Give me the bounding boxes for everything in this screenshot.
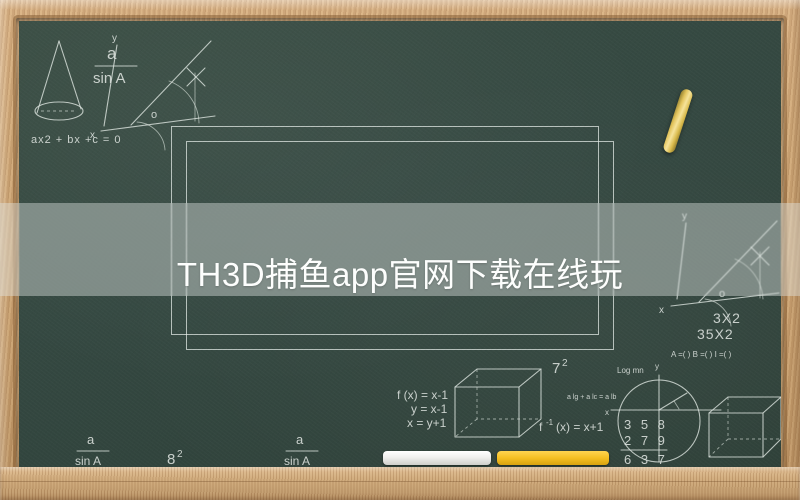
label-35x2: 35X2 xyxy=(697,326,734,342)
svg-text:2: 2 xyxy=(562,358,568,369)
svg-text:x = y+1: x = y+1 xyxy=(407,416,447,430)
circle-radius-drawing: y x xyxy=(605,362,721,462)
yellow-chalk-icon xyxy=(497,451,609,465)
svg-text:a: a xyxy=(296,432,304,447)
svg-text:7: 7 xyxy=(552,360,560,377)
svg-text:y = x-1: y = x-1 xyxy=(411,402,448,416)
svg-text:8: 8 xyxy=(167,451,175,467)
svg-text:a: a xyxy=(87,432,95,447)
inverse-function: f -1 (x) = x+1 xyxy=(539,418,604,434)
addition-column: 3 5 8 2 7 9 6 3 7 xyxy=(621,417,668,467)
white-chalk-icon xyxy=(383,451,491,465)
matrix-notation-row: A =( ) B =( ) I =( ) xyxy=(671,350,732,359)
svg-text:f (x) = x-1: f (x) = x-1 xyxy=(397,388,448,402)
svg-text:x: x xyxy=(605,408,609,417)
fraction-a-over-sina-bottom-left: a sin A xyxy=(75,432,109,467)
svg-text:2: 2 xyxy=(177,449,183,460)
log-rule: a lg + a lc = a lb xyxy=(567,394,617,401)
ledge-groove xyxy=(0,481,800,482)
svg-text:(x) = x+1: (x) = x+1 xyxy=(556,420,604,434)
power-seven-squared: 7 2 xyxy=(552,358,568,377)
svg-text:y: y xyxy=(655,362,659,371)
svg-text:2 7 9: 2 7 9 xyxy=(624,433,668,448)
svg-text:A =( ) B =( ) I =( ): A =( ) B =( ) I =( ) xyxy=(671,350,732,359)
svg-text:a: a xyxy=(107,44,117,63)
svg-text:6 3 7: 6 3 7 xyxy=(624,452,668,467)
svg-text:sin A: sin A xyxy=(93,70,126,87)
svg-text:x: x xyxy=(90,130,95,141)
svg-text:f: f xyxy=(539,420,543,434)
fraction-a-over-sina-bottom-center: a sin A xyxy=(284,432,318,467)
svg-text:sin A: sin A xyxy=(284,454,310,467)
svg-text:o: o xyxy=(151,109,157,121)
function-lines: f (x) = x-1 y = x-1 x = y+1 xyxy=(397,388,448,430)
quadratic-equation: ax2 + bx +c = 0 xyxy=(31,134,122,146)
chalkboard-banner: a sin A ax2 + bx +c = 0 y x xyxy=(0,0,800,500)
power-eight-squared: 8 2 xyxy=(167,449,183,467)
svg-text:y: y xyxy=(112,33,117,44)
svg-text:-1: -1 xyxy=(546,418,554,427)
chalk-ledge xyxy=(0,467,800,500)
cone-drawing xyxy=(35,41,83,120)
fraction-a-over-sina-top: a sin A xyxy=(93,44,137,87)
cube-drawing-center xyxy=(455,369,541,437)
svg-text:sin A: sin A xyxy=(75,454,101,467)
page-title: TH3D捕鱼app官网下载在线玩 xyxy=(0,225,800,318)
log-mn-label: Log mn xyxy=(617,366,644,375)
cube-drawing-right xyxy=(709,397,781,457)
svg-text:3 5 8: 3 5 8 xyxy=(624,417,668,432)
